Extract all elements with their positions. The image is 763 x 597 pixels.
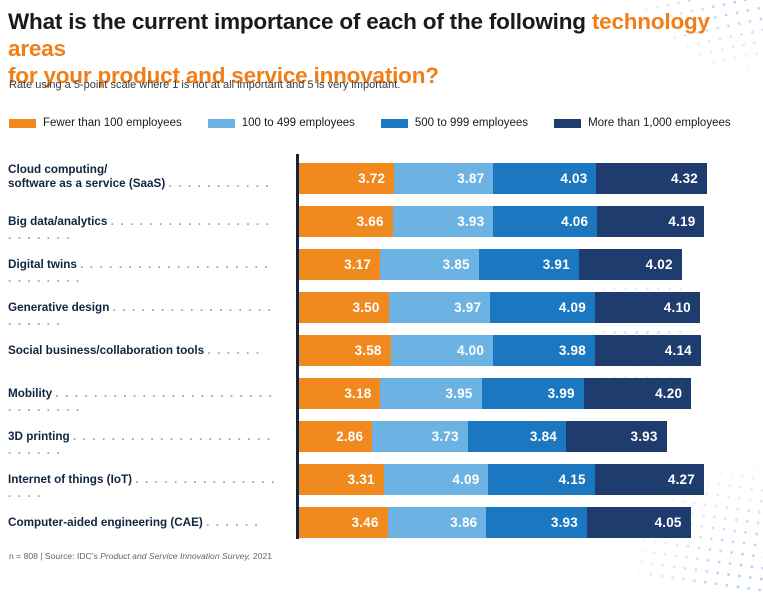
chart-row: 3D printing . . . . . . . . . . . . . . … bbox=[0, 417, 763, 454]
stacked-bar-chart: Cloud computing/software as a service (S… bbox=[0, 150, 763, 545]
legend-item-500-to-999[interactable]: 500 to 999 employees bbox=[381, 117, 528, 129]
chart-row: Big data/analytics . . . . . . . . . . .… bbox=[0, 202, 763, 239]
bar-segment-series3[interactable]: 3.91 bbox=[479, 249, 579, 280]
chart-row-label: Computer-aided engineering (CAE) . . . .… bbox=[8, 516, 278, 530]
bar-value-label: 4.14 bbox=[665, 343, 692, 358]
page-subtitle: Rate using a 5-point scale where 1 is no… bbox=[9, 79, 400, 91]
bar-value-label: 4.03 bbox=[560, 171, 587, 186]
legend-item-fewer-than-100[interactable]: Fewer than 100 employees bbox=[9, 117, 182, 129]
bar-value-label: 3.84 bbox=[530, 429, 557, 444]
bar-segment-series1[interactable]: 3.46 bbox=[299, 507, 388, 538]
bar-value-label: 3.87 bbox=[457, 171, 484, 186]
bar-value-label: 3.93 bbox=[631, 429, 658, 444]
bar-segment-series1[interactable]: 3.50 bbox=[299, 292, 389, 323]
bar-segment-series2[interactable]: 3.95 bbox=[380, 378, 481, 409]
bar-segment-series1[interactable]: 3.31 bbox=[299, 464, 384, 495]
bar-value-label: 4.19 bbox=[668, 214, 695, 229]
chart-row: Digital twins . . . . . . . . . . . . . … bbox=[0, 245, 763, 282]
bar-value-label: 2.86 bbox=[336, 429, 363, 444]
label-dot-leader: . . . . . . bbox=[206, 516, 259, 529]
bar-segment-series3[interactable]: 4.15 bbox=[488, 464, 594, 495]
chart-row-label-line1: Cloud computing/ bbox=[8, 163, 278, 177]
chart-row: Social business/collaboration tools . . … bbox=[0, 331, 763, 368]
bar-value-label: 3.72 bbox=[358, 171, 385, 186]
footnote-year: 2021 bbox=[251, 551, 273, 561]
chart-row-label: Big data/analytics . . . . . . . . . . .… bbox=[8, 215, 278, 243]
bar-segment-series2[interactable]: 3.86 bbox=[388, 507, 487, 538]
chart-row-label-line1: Internet of things (IoT) bbox=[8, 473, 135, 486]
chart-row-label-line1: Digital twins bbox=[8, 258, 80, 271]
chart-row-label-line2: software as a service (SaaS) . . . . . .… bbox=[8, 177, 278, 191]
legend-label-series1: Fewer than 100 employees bbox=[43, 117, 182, 129]
chart-row-label: Digital twins . . . . . . . . . . . . . … bbox=[8, 258, 278, 286]
stacked-bar: 3.314.094.154.27 bbox=[299, 464, 704, 495]
bar-segment-series2[interactable]: 3.85 bbox=[380, 249, 479, 280]
bar-segment-series2[interactable]: 3.73 bbox=[372, 421, 467, 452]
bar-value-label: 3.91 bbox=[543, 257, 570, 272]
chart-row-label: Cloud computing/software as a service (S… bbox=[8, 163, 278, 191]
legend-swatch-icon-series3 bbox=[381, 119, 408, 128]
page-title-plain: What is the current importance of each o… bbox=[8, 9, 592, 34]
bar-segment-series3[interactable]: 3.84 bbox=[468, 421, 566, 452]
page-title: What is the current importance of each o… bbox=[8, 8, 758, 89]
legend-item-100-to-499[interactable]: 100 to 499 employees bbox=[208, 117, 355, 129]
stacked-bar: 3.584.003.984.14 bbox=[299, 335, 701, 366]
bar-value-label: 3.46 bbox=[351, 515, 378, 530]
stacked-bar: 3.663.934.064.19 bbox=[299, 206, 704, 237]
bar-value-label: 3.50 bbox=[353, 300, 380, 315]
bar-value-label: 3.17 bbox=[344, 257, 371, 272]
bar-segment-series3[interactable]: 4.06 bbox=[493, 206, 597, 237]
bar-value-label: 4.05 bbox=[655, 515, 682, 530]
bar-segment-series4[interactable]: 4.19 bbox=[597, 206, 704, 237]
chart-row-label-line1: 3D printing bbox=[8, 430, 73, 443]
bar-segment-series4[interactable]: 4.14 bbox=[595, 335, 701, 366]
bar-value-label: 3.85 bbox=[443, 257, 470, 272]
chart-row: Mobility . . . . . . . . . . . . . . . .… bbox=[0, 374, 763, 411]
legend-swatch-icon-series1 bbox=[9, 119, 36, 128]
bar-value-label: 4.10 bbox=[664, 300, 691, 315]
chart-row-label: Mobility . . . . . . . . . . . . . . . .… bbox=[8, 387, 278, 415]
bar-value-label: 3.99 bbox=[548, 386, 575, 401]
bar-value-label: 3.58 bbox=[355, 343, 382, 358]
bar-value-label: 4.02 bbox=[646, 257, 673, 272]
chart-row-label-line1: Computer-aided engineering (CAE) bbox=[8, 516, 206, 529]
legend-item-more-than-1000[interactable]: More than 1,000 employees bbox=[554, 117, 731, 129]
bar-segment-series4[interactable]: 4.32 bbox=[596, 163, 707, 194]
chart-row-label-line1: Generative design bbox=[8, 301, 113, 314]
bar-value-label: 3.98 bbox=[559, 343, 586, 358]
bar-value-label: 3.97 bbox=[454, 300, 481, 315]
bar-value-label: 4.00 bbox=[457, 343, 484, 358]
bar-segment-series1[interactable]: 2.86 bbox=[299, 421, 372, 452]
chart-row-label: Internet of things (IoT) . . . . . . . .… bbox=[8, 473, 278, 501]
bar-value-label: 3.31 bbox=[348, 472, 375, 487]
chart-row: Computer-aided engineering (CAE) . . . .… bbox=[0, 503, 763, 540]
chart-row: Generative design . . . . . . . . . . . … bbox=[0, 288, 763, 325]
legend-label-series3: 500 to 999 employees bbox=[415, 117, 528, 129]
chart-legend: Fewer than 100 employees 100 to 499 empl… bbox=[9, 117, 757, 129]
bar-segment-series2[interactable]: 3.87 bbox=[394, 163, 493, 194]
bar-value-label: 4.32 bbox=[671, 171, 698, 186]
bar-value-label: 3.66 bbox=[357, 214, 384, 229]
bar-segment-series4[interactable]: 4.27 bbox=[595, 464, 704, 495]
bar-value-label: 4.20 bbox=[655, 386, 682, 401]
bar-segment-series3[interactable]: 3.99 bbox=[482, 378, 584, 409]
bar-segment-series4[interactable]: 4.20 bbox=[584, 378, 692, 409]
bar-segment-series2[interactable]: 3.97 bbox=[389, 292, 491, 323]
bar-value-label: 3.18 bbox=[344, 386, 371, 401]
stacked-bar: 3.183.953.994.20 bbox=[299, 378, 691, 409]
stacked-bar: 3.173.853.914.02 bbox=[299, 249, 682, 280]
bar-value-label: 4.06 bbox=[561, 214, 588, 229]
bar-segment-series3[interactable]: 4.09 bbox=[490, 292, 595, 323]
chart-row: Internet of things (IoT) . . . . . . . .… bbox=[0, 460, 763, 497]
bar-segment-series1[interactable]: 3.18 bbox=[299, 378, 380, 409]
chart-row-label: 3D printing . . . . . . . . . . . . . . … bbox=[8, 430, 278, 458]
bar-value-label: 3.93 bbox=[457, 214, 484, 229]
bar-segment-series3[interactable]: 4.03 bbox=[493, 163, 596, 194]
bar-value-label: 4.15 bbox=[559, 472, 586, 487]
bar-segment-series2[interactable]: 3.93 bbox=[393, 206, 494, 237]
bar-value-label: 3.93 bbox=[551, 515, 578, 530]
chart-row-label-line1: Big data/analytics bbox=[8, 215, 111, 228]
bar-segment-series4[interactable]: 4.02 bbox=[579, 249, 682, 280]
label-dot-leader: . . . . . . bbox=[207, 344, 260, 357]
legend-label-series4: More than 1,000 employees bbox=[588, 117, 731, 129]
bar-value-label: 3.95 bbox=[445, 386, 472, 401]
legend-label-series2: 100 to 499 employees bbox=[242, 117, 355, 129]
bar-value-label: 4.09 bbox=[559, 300, 586, 315]
legend-swatch-icon-series4 bbox=[554, 119, 581, 128]
bar-segment-series4[interactable]: 4.10 bbox=[595, 292, 700, 323]
chart-row-label-line1: Social business/collaboration tools bbox=[8, 344, 207, 357]
bar-value-label: 3.73 bbox=[432, 429, 459, 444]
bar-segment-series1[interactable]: 3.58 bbox=[299, 335, 391, 366]
label-dot-leader: . . . . . . . . . . . bbox=[168, 177, 270, 190]
chart-row-label: Generative design . . . . . . . . . . . … bbox=[8, 301, 278, 329]
chart-row-label-line1: Mobility bbox=[8, 387, 55, 400]
bar-segment-series1[interactable]: 3.66 bbox=[299, 206, 393, 237]
stacked-bar: 2.863.733.843.93 bbox=[299, 421, 667, 452]
bar-value-label: 4.27 bbox=[668, 472, 695, 487]
bar-segment-series4[interactable]: 3.93 bbox=[566, 421, 667, 452]
footnote-source-title: Product and Service Innovation Survey, bbox=[100, 551, 250, 561]
chart-row-label: Social business/collaboration tools . . … bbox=[8, 344, 278, 358]
bar-value-label: 3.86 bbox=[450, 515, 477, 530]
bar-segment-series4[interactable]: 4.05 bbox=[587, 507, 691, 538]
bar-segment-series2[interactable]: 4.09 bbox=[384, 464, 489, 495]
bar-value-label: 4.09 bbox=[452, 472, 479, 487]
bar-segment-series3[interactable]: 3.98 bbox=[493, 335, 595, 366]
footnote-n: n = 808 | Source: IDC’s bbox=[9, 551, 100, 561]
stacked-bar: 3.463.863.934.05 bbox=[299, 507, 691, 538]
bar-segment-series1[interactable]: 3.17 bbox=[299, 249, 380, 280]
chart-row: Cloud computing/software as a service (S… bbox=[0, 159, 763, 196]
bar-segment-series1[interactable]: 3.72 bbox=[299, 163, 394, 194]
bar-segment-series3[interactable]: 3.93 bbox=[486, 507, 587, 538]
stacked-bar: 3.723.874.034.32 bbox=[299, 163, 707, 194]
bar-segment-series2[interactable]: 4.00 bbox=[391, 335, 493, 366]
stacked-bar: 3.503.974.094.10 bbox=[299, 292, 700, 323]
chart-footnote: n = 808 | Source: IDC’s Product and Serv… bbox=[9, 551, 272, 561]
legend-swatch-icon-series2 bbox=[208, 119, 235, 128]
